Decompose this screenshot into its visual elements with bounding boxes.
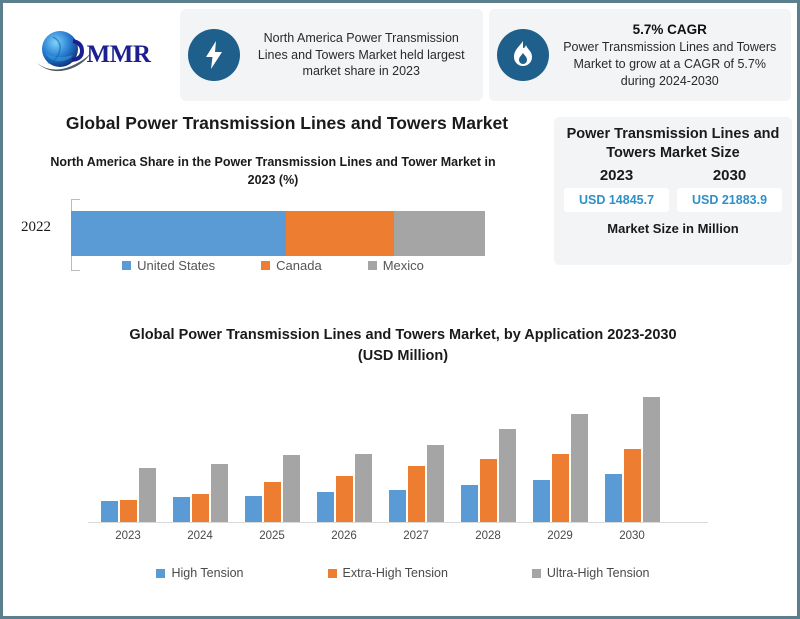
brand-name: MMR [87, 41, 151, 69]
bar-ultra-high-tension-2026 [355, 454, 372, 522]
bar-high-tension-2030 [605, 474, 622, 522]
application-chart-x-labels: 20232024202520262027202820292030 [88, 530, 708, 550]
bar-high-tension-2027 [389, 490, 406, 522]
bar-extra-high-tension-2030 [624, 449, 641, 522]
region-axis-label: 2022 [21, 219, 51, 236]
header-card-north-america-text: North America Power Transmission Lines a… [248, 30, 475, 81]
brand-logo: MMR [9, 9, 174, 101]
bar-group-2029 [533, 414, 588, 522]
bar-extra-high-tension-2023 [120, 500, 137, 522]
bar-ultra-high-tension-2030 [643, 397, 660, 522]
bar-ultra-high-tension-2028 [499, 429, 516, 522]
region-legend-item: United States [122, 258, 215, 273]
bar-ultra-high-tension-2023 [139, 468, 156, 522]
region-legend-label: Mexico [383, 258, 424, 273]
x-label-2030: 2030 [602, 530, 662, 542]
market-size-title: Power Transmission Lines and Towers Mark… [560, 125, 786, 163]
bar-extra-high-tension-2027 [408, 466, 425, 522]
region-legend-item: Mexico [368, 258, 424, 273]
market-size-footer: Market Size in Million [560, 221, 786, 236]
bar-extra-high-tension-2024 [192, 494, 209, 522]
bar-high-tension-2023 [101, 501, 118, 522]
bar-group-2023 [101, 468, 156, 522]
application-chart-baseline [88, 522, 708, 523]
cagr-description: Power Transmission Lines and Towers Mark… [563, 40, 776, 88]
market-size-card: Power Transmission Lines and Towers Mark… [554, 117, 792, 265]
page-title: Global Power Transmission Lines and Towe… [17, 113, 557, 134]
x-label-2023: 2023 [98, 530, 158, 542]
bar-group-2025 [245, 455, 300, 522]
application-chart-plot [88, 388, 708, 523]
legend-swatch-icon [261, 261, 270, 270]
application-legend-label: High Tension [171, 566, 243, 580]
infographic-page: MMR North America Power Transmission Lin… [0, 0, 800, 619]
bar-group-2026 [317, 454, 372, 522]
bar-group-2024 [173, 464, 228, 522]
bar-ultra-high-tension-2029 [571, 414, 588, 522]
bar-high-tension-2029 [533, 480, 550, 522]
bar-ultra-high-tension-2027 [427, 445, 444, 522]
header-card-cagr-text: 5.7% CAGR Power Transmission Lines and T… [557, 21, 784, 90]
region-legend-item: Canada [261, 258, 322, 273]
legend-swatch-icon [156, 569, 165, 578]
x-label-2029: 2029 [530, 530, 590, 542]
application-chart-legend: High TensionExtra-High TensionUltra-High… [103, 566, 703, 580]
region-share-chart: North America Share in the Power Transmi… [13, 153, 533, 269]
x-label-2028: 2028 [458, 530, 518, 542]
market-size-years: 2023 2030 [560, 167, 786, 184]
x-label-2025: 2025 [242, 530, 302, 542]
region-legend: United StatesCanadaMexico [13, 258, 533, 273]
legend-swatch-icon [532, 569, 541, 578]
application-legend-label: Extra-High Tension [343, 566, 448, 580]
header-row: MMR North America Power Transmission Lin… [9, 9, 791, 101]
bar-high-tension-2028 [461, 485, 478, 522]
bar-group-2028 [461, 429, 516, 522]
market-size-year-2030: 2030 [673, 167, 786, 184]
application-chart-title: Global Power Transmission Lines and Towe… [113, 325, 693, 367]
bar-high-tension-2026 [317, 492, 334, 522]
lightning-bolt-icon [188, 29, 240, 81]
x-label-2026: 2026 [314, 530, 374, 542]
region-legend-label: Canada [276, 258, 322, 273]
cagr-highlight: 5.7% CAGR [557, 21, 784, 39]
legend-swatch-icon [328, 569, 337, 578]
bar-ultra-high-tension-2024 [211, 464, 228, 522]
application-legend-item: Ultra-High Tension [532, 566, 650, 580]
market-size-value-2030: USD 21883.9 [677, 188, 782, 212]
application-legend-label: Ultra-High Tension [547, 566, 650, 580]
bar-extra-high-tension-2026 [336, 476, 353, 522]
header-card-cagr: 5.7% CAGR Power Transmission Lines and T… [489, 9, 792, 101]
region-segment-mexico [394, 211, 485, 256]
bar-group-2030 [605, 397, 660, 522]
region-legend-label: United States [137, 258, 215, 273]
bar-extra-high-tension-2028 [480, 459, 497, 522]
region-segment-canada [286, 211, 394, 256]
region-share-title: North America Share in the Power Transmi… [13, 153, 533, 189]
x-label-2027: 2027 [386, 530, 446, 542]
header-card-north-america: North America Power Transmission Lines a… [180, 9, 483, 101]
bar-ultra-high-tension-2025 [283, 455, 300, 522]
x-label-2024: 2024 [170, 530, 230, 542]
flame-icon [497, 29, 549, 81]
application-legend-item: Extra-High Tension [328, 566, 448, 580]
market-size-year-2023: 2023 [560, 167, 673, 184]
bar-extra-high-tension-2025 [264, 482, 281, 522]
application-legend-item: High Tension [156, 566, 243, 580]
legend-swatch-icon [368, 261, 377, 270]
market-size-values: USD 14845.7 USD 21883.9 [560, 188, 786, 212]
market-size-value-2023: USD 14845.7 [564, 188, 669, 212]
bar-high-tension-2025 [245, 496, 262, 522]
bar-group-2027 [389, 445, 444, 522]
region-segment-united-states [71, 211, 286, 256]
region-stacked-bar [71, 211, 485, 256]
bar-extra-high-tension-2029 [552, 454, 569, 522]
legend-swatch-icon [122, 261, 131, 270]
bar-high-tension-2024 [173, 497, 190, 522]
